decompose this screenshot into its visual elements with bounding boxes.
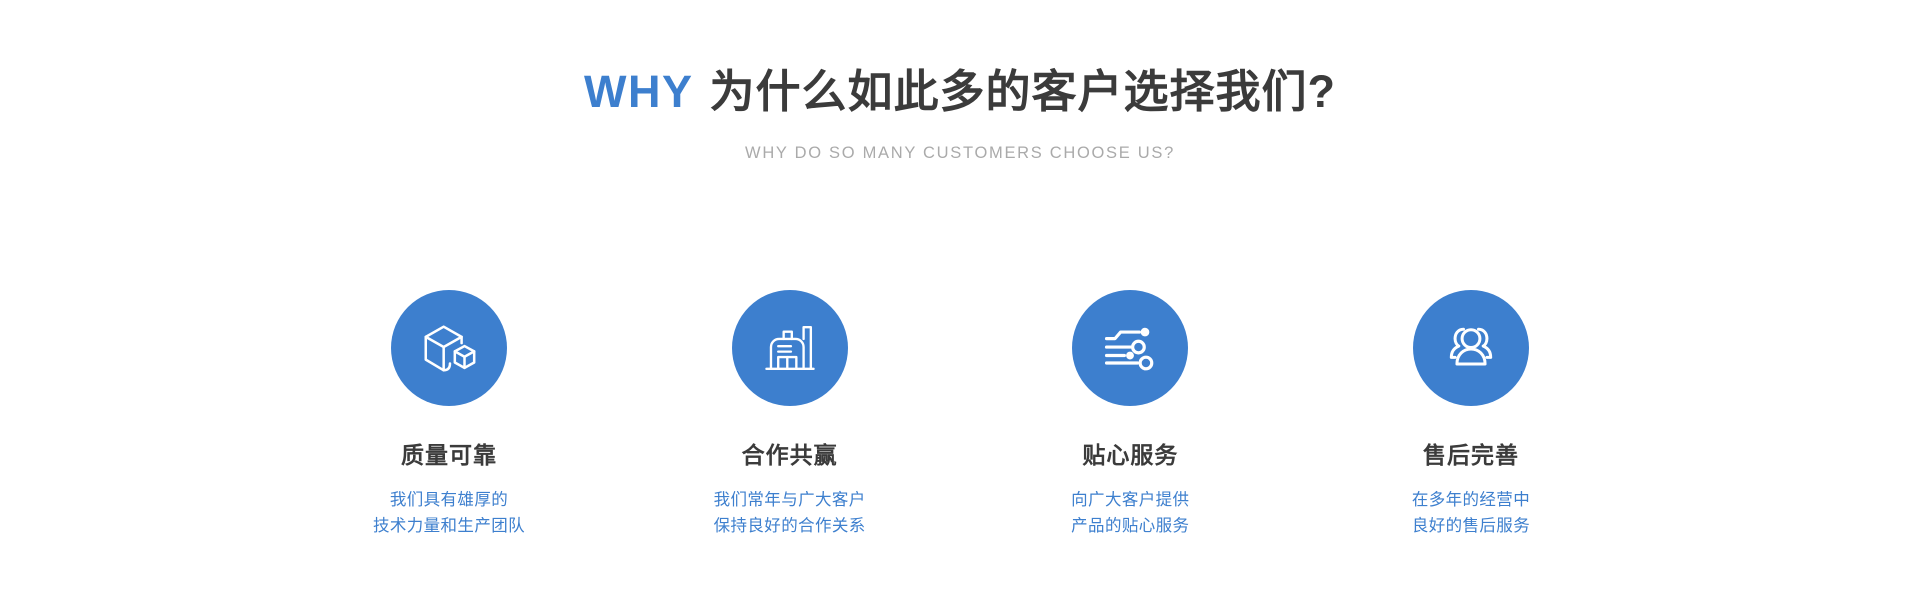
feature-title: 售后完善 (1423, 442, 1519, 470)
feature-icon-circle (391, 290, 507, 406)
why-choose-us-section: WHY为什么如此多的客户选择我们? WHY DO SO MANY CUSTOME… (0, 0, 1920, 615)
page-subtitle: WHY DO SO MANY CUSTOMERS CHOOSE US? (0, 144, 1920, 163)
title-chinese: 为什么如此多的客户选择我们? (710, 66, 1337, 117)
feature-desc-line-2: 技术力量和生产团队 (373, 513, 525, 539)
feature-desc-line-1: 在多年的经营中 (1412, 487, 1530, 513)
heading-block: WHY为什么如此多的客户选择我们? WHY DO SO MANY CUSTOME… (0, 64, 1920, 163)
feature-icon-circle (1413, 290, 1529, 406)
feature-desc-line-2: 保持良好的合作关系 (714, 513, 866, 539)
feature-card-quality[interactable]: 质量可靠 我们具有雄厚的 技术力量和生产团队 (309, 290, 589, 539)
feature-title: 质量可靠 (401, 442, 497, 470)
feature-description: 向广大客户提供 产品的贴心服务 (1071, 487, 1189, 539)
page-title: WHY为什么如此多的客户选择我们? (0, 64, 1920, 120)
users-group-icon (1441, 318, 1501, 378)
feature-card-service[interactable]: 贴心服务 向广大客户提供 产品的贴心服务 (990, 290, 1270, 539)
feature-description: 我们具有雄厚的 技术力量和生产团队 (373, 487, 525, 539)
feature-title: 贴心服务 (1082, 442, 1178, 470)
feature-icon-circle (732, 290, 848, 406)
feature-list: 质量可靠 我们具有雄厚的 技术力量和生产团队 (309, 290, 1611, 539)
title-eyebrow: WHY (584, 66, 694, 117)
feature-desc-line-1: 向广大客户提供 (1071, 487, 1189, 513)
feature-desc-line-1: 我们具有雄厚的 (373, 487, 525, 513)
circuit-network-icon (1100, 318, 1160, 378)
feature-desc-line-2: 产品的贴心服务 (1071, 513, 1189, 539)
feature-desc-line-2: 良好的售后服务 (1412, 513, 1530, 539)
feature-card-cooperation[interactable]: 合作共赢 我们常年与广大客户 保持良好的合作关系 (650, 290, 930, 539)
factory-icon (761, 319, 819, 377)
feature-icon-circle (1072, 290, 1188, 406)
feature-desc-line-1: 我们常年与广大客户 (714, 487, 866, 513)
feature-card-aftersales[interactable]: 售后完善 在多年的经营中 良好的售后服务 (1331, 290, 1611, 539)
feature-title: 合作共赢 (742, 442, 838, 470)
feature-description: 在多年的经营中 良好的售后服务 (1412, 487, 1530, 539)
feature-description: 我们常年与广大客户 保持良好的合作关系 (714, 487, 866, 539)
package-box-icon (418, 317, 480, 379)
